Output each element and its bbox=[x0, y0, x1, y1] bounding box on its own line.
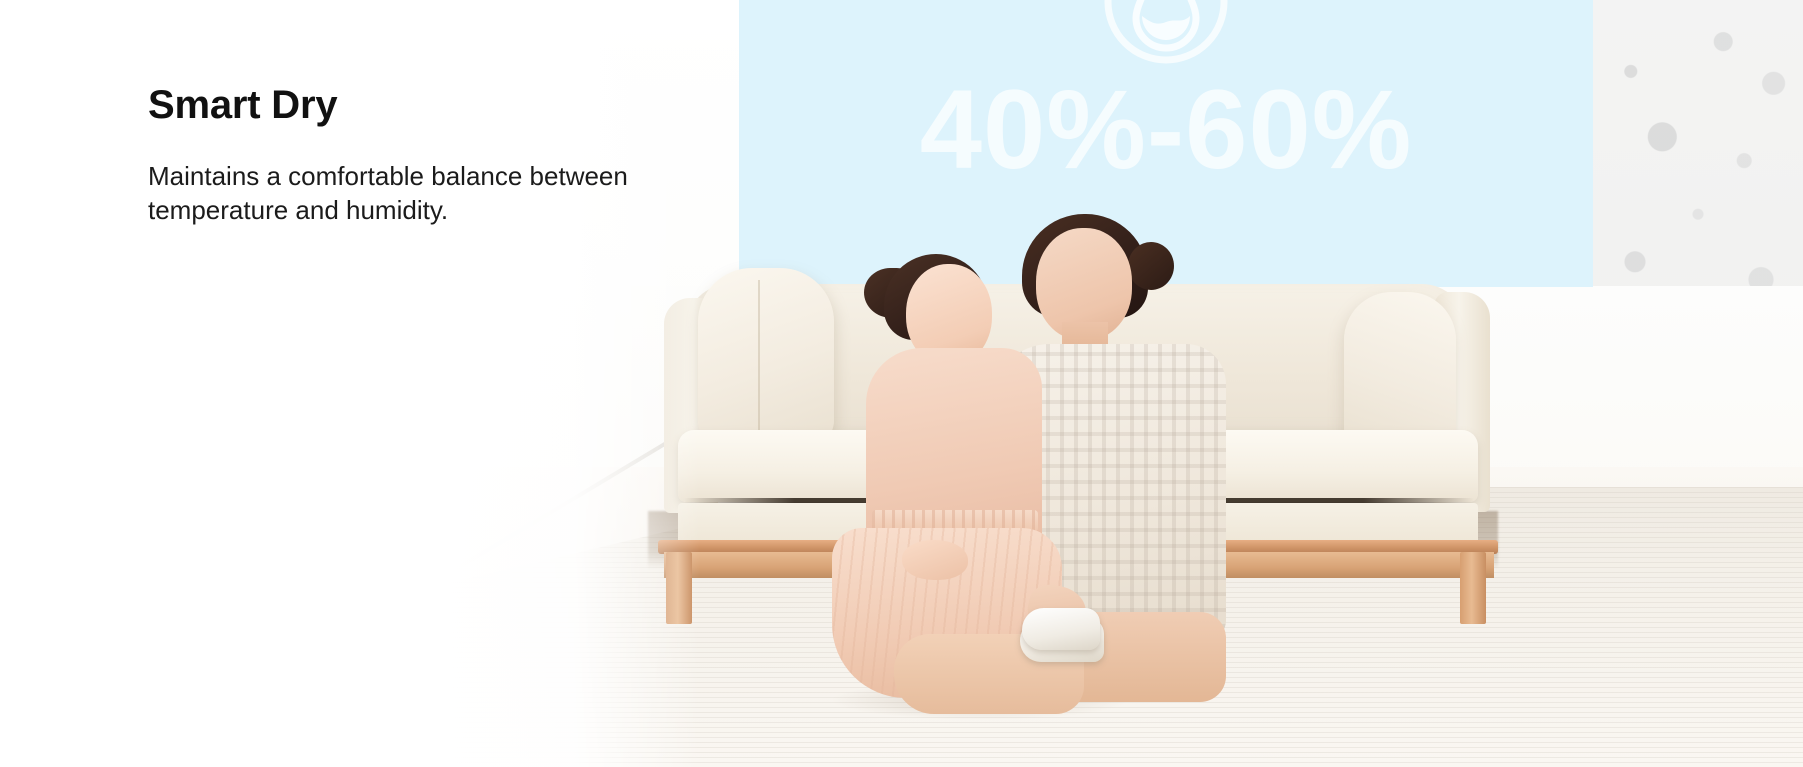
girl-hands bbox=[902, 540, 968, 580]
humidity-range-label: 40%-60% bbox=[739, 74, 1593, 186]
smart-dry-promo-banner: 40%-60% bbox=[0, 0, 1803, 767]
mother-and-daughter bbox=[810, 210, 1230, 767]
mother-shoe bbox=[1022, 608, 1100, 650]
humidity-droplet-icon bbox=[1100, 0, 1232, 68]
copy-block: Smart Dry Maintains a comfortable balanc… bbox=[148, 83, 688, 228]
page-title: Smart Dry bbox=[148, 83, 688, 127]
sofa-leg-left bbox=[666, 552, 692, 624]
page-subtitle: Maintains a comfortable balance between … bbox=[148, 159, 683, 228]
sofa-leg-right bbox=[1460, 552, 1486, 624]
mother-hair-bun bbox=[1128, 242, 1174, 290]
